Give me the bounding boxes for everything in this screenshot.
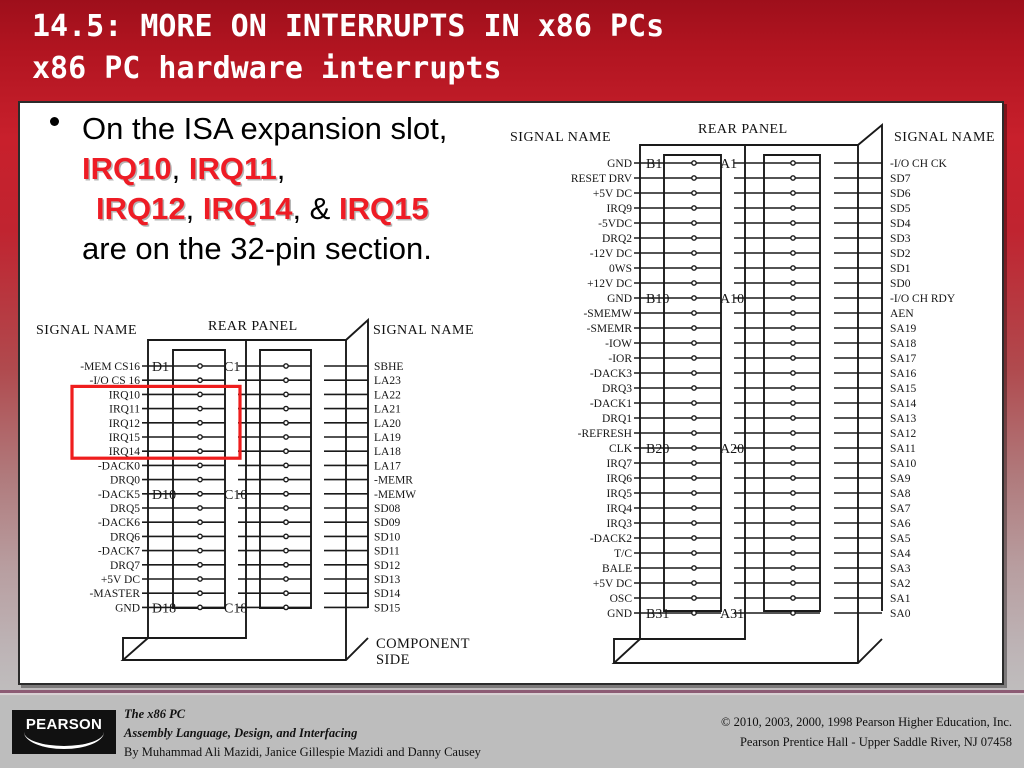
svg-text:SD5: SD5 (890, 203, 911, 215)
svg-text:SA1: SA1 (890, 593, 911, 605)
left-diagram-row: -MEM CS16SBHE (80, 361, 403, 373)
svg-text:SA18: SA18 (890, 338, 916, 350)
svg-text:A31: A31 (720, 607, 744, 622)
svg-text:T/C: T/C (614, 548, 632, 560)
svg-text:B1: B1 (646, 157, 662, 172)
right-diagram-rear-panel: REAR PANEL (698, 122, 788, 137)
svg-text:+5V DC: +5V DC (593, 188, 633, 200)
svg-text:-REFRESH: -REFRESH (578, 428, 632, 440)
left-diagram-row: -DACK6SD09 (98, 517, 401, 529)
svg-text:B31: B31 (646, 607, 669, 622)
svg-text:B10: B10 (646, 292, 669, 307)
bullet-block: On the ISA expansion slot, IRQ10, IRQ11,… (34, 109, 504, 269)
svg-text:+5V DC: +5V DC (101, 574, 141, 586)
svg-text:SA6: SA6 (890, 518, 911, 530)
right-diagram-row: DRQ1SA13 (602, 413, 916, 425)
svg-text:SD08: SD08 (374, 503, 400, 515)
right-diagram-row: IRQ6SA9 (606, 473, 910, 485)
svg-text:A20: A20 (720, 442, 744, 457)
left-diagram-signal-name-left: SIGNAL NAME (36, 323, 137, 338)
svg-text:GND: GND (607, 608, 632, 620)
right-diagram-svg: SIGNAL NAME REAR PANEL SIGNAL NAME GND-I… (502, 119, 1002, 679)
right-diagram-row: IRQ7SA10 (606, 458, 916, 470)
svg-text:IRQ15: IRQ15 (109, 432, 141, 444)
svg-text:A10: A10 (720, 292, 744, 307)
svg-text:C18: C18 (224, 601, 247, 616)
page-title-line2: x86 PC hardware interrupts (0, 50, 502, 88)
svg-text:DRQ2: DRQ2 (602, 233, 632, 245)
right-diagram-row: -DACK3SA16 (590, 368, 917, 380)
svg-text:OSC: OSC (610, 593, 633, 605)
irq11-label: IRQ11 (189, 151, 277, 186)
svg-text:DRQ5: DRQ5 (110, 503, 140, 515)
right-diagram-row: DRQ2SD3 (602, 233, 911, 245)
right-diagram-row: -SMEMWAEN (583, 308, 914, 320)
svg-text:-MEMR: -MEMR (374, 475, 413, 487)
right-diagram-row: BALESA3 (602, 563, 911, 575)
irq12-label: IRQ12 (96, 191, 186, 226)
right-diagram-row: -5VDCSD4 (598, 218, 911, 230)
left-diagram-component-label-2: SIDE (376, 652, 410, 668)
svg-text:SD0: SD0 (890, 278, 911, 290)
svg-text:LA20: LA20 (374, 418, 401, 430)
svg-text:LA22: LA22 (374, 389, 401, 401)
left-diagram-row: -MASTERSD14 (90, 588, 401, 600)
left-diagram-row: +5V DCSD13 (101, 574, 401, 586)
right-diagram-row: -SMEMRSA19 (587, 323, 917, 335)
book-subtitle: Assembly Language, Design, and Interfaci… (124, 724, 481, 743)
svg-text:SBHE: SBHE (374, 361, 403, 373)
svg-text:D18: D18 (152, 601, 176, 616)
svg-text:SA16: SA16 (890, 368, 916, 380)
slide-header: 14.5: MORE ON INTERRUPTS IN x86 PCs x86 … (0, 0, 1024, 100)
left-diagram-rear-panel: REAR PANEL (208, 319, 298, 334)
svg-text:SA9: SA9 (890, 473, 911, 485)
svg-text:SD6: SD6 (890, 188, 911, 200)
pearson-logo-text: PEARSON (12, 716, 116, 733)
right-diagram-62pin: SIGNAL NAME REAR PANEL SIGNAL NAME GND-I… (502, 119, 1002, 679)
svg-text:DRQ7: DRQ7 (110, 560, 140, 572)
bullet-dot-icon (50, 117, 59, 126)
svg-text:-DACK1: -DACK1 (590, 398, 632, 410)
right-diagram-row: DRQ3SA15 (602, 383, 916, 395)
svg-text:AEN: AEN (890, 308, 914, 320)
svg-text:IRQ10: IRQ10 (109, 389, 141, 401)
irq15-label: IRQ15 (339, 191, 429, 226)
content-card: On the ISA expansion slot, IRQ10, IRQ11,… (18, 101, 1004, 685)
left-diagram-row: IRQ12LA20 (109, 418, 401, 430)
svg-text:-SMEMR: -SMEMR (587, 323, 633, 335)
svg-text:IRQ11: IRQ11 (109, 404, 140, 416)
book-info: The x86 PC Assembly Language, Design, an… (124, 705, 481, 762)
svg-text:0WS: 0WS (609, 263, 632, 275)
svg-text:DRQ0: DRQ0 (110, 475, 140, 487)
right-diagram-row: 0WSSD1 (609, 263, 911, 275)
page-title-line1: 14.5: MORE ON INTERRUPTS IN x86 PCs (0, 8, 664, 46)
svg-text:SD4: SD4 (890, 218, 911, 230)
svg-text:SD7: SD7 (890, 173, 911, 185)
svg-text:SA0: SA0 (890, 608, 911, 620)
right-diagram-row: -DACK2SA5 (590, 533, 911, 545)
svg-text:-IOW: -IOW (605, 338, 632, 350)
right-diagram-row: -IOWSA18 (605, 338, 916, 350)
svg-text:SA11: SA11 (890, 443, 916, 455)
svg-text:-I/O CH RDY: -I/O CH RDY (890, 293, 956, 305)
svg-text:IRQ14: IRQ14 (109, 446, 141, 458)
svg-text:-IOR: -IOR (608, 353, 632, 365)
bullet-seg-1: On the ISA expansion slot, (82, 111, 447, 146)
right-diagram-row: IRQ3SA6 (606, 518, 910, 530)
left-diagram-row: -DACK0LA17 (98, 460, 401, 472)
svg-text:-DACK0: -DACK0 (98, 460, 140, 472)
left-diagram-row: -DACK7SD11 (98, 546, 400, 558)
svg-text:-DACK6: -DACK6 (98, 517, 140, 529)
left-diagram-row: IRQ10LA22 (109, 389, 401, 401)
left-diagram-signal-name-right: SIGNAL NAME (373, 323, 474, 338)
svg-text:-MEM CS16: -MEM CS16 (80, 361, 140, 373)
bullet-sep-3: , (186, 191, 203, 226)
svg-text:-5VDC: -5VDC (598, 218, 632, 230)
slide: 14.5: MORE ON INTERRUPTS IN x86 PCs x86 … (0, 0, 1024, 768)
svg-text:-MASTER: -MASTER (90, 588, 141, 600)
copyright-line-1: © 2010, 2003, 2000, 1998 Pearson Higher … (721, 712, 1012, 732)
book-authors: By Muhammad Ali Mazidi, Janice Gillespie… (124, 743, 481, 762)
svg-text:SA13: SA13 (890, 413, 916, 425)
svg-text:-DACK5: -DACK5 (98, 489, 140, 501)
svg-text:BALE: BALE (602, 563, 632, 575)
svg-text:GND: GND (115, 602, 140, 614)
svg-text:SA8: SA8 (890, 488, 911, 500)
left-diagram-row: DRQ6SD10 (110, 531, 400, 543)
svg-text:+12V DC: +12V DC (587, 278, 632, 290)
left-diagram-row: IRQ15LA19 (109, 432, 401, 444)
right-diagram-row: RESET DRVSD7 (571, 173, 911, 185)
left-diagram-row: DRQ5SD08 (110, 503, 400, 515)
svg-text:C1: C1 (224, 360, 240, 375)
svg-text:SA2: SA2 (890, 578, 911, 590)
pearson-logo: PEARSON (12, 710, 116, 754)
svg-text:-MEMW: -MEMW (374, 489, 416, 501)
left-diagram-row: IRQ14LA18 (109, 446, 401, 458)
svg-text:IRQ3: IRQ3 (606, 518, 632, 530)
svg-text:SA3: SA3 (890, 563, 911, 575)
left-diagram-svg: SIGNAL NAME REAR PANEL SIGNAL NAME COMPO… (28, 308, 498, 678)
svg-text:SA7: SA7 (890, 503, 911, 515)
svg-text:DRQ6: DRQ6 (110, 531, 140, 543)
bullet-sep-2: , (277, 151, 286, 186)
slide-footer: PEARSON The x86 PC Assembly Language, De… (0, 696, 1024, 768)
book-title: The x86 PC (124, 705, 481, 724)
svg-text:LA19: LA19 (374, 432, 401, 444)
svg-text:CLK: CLK (609, 443, 633, 455)
svg-text:SA15: SA15 (890, 383, 916, 395)
svg-text:D1: D1 (152, 360, 169, 375)
svg-text:IRQ12: IRQ12 (109, 418, 141, 430)
left-diagram-row: DRQ7SD12 (110, 560, 400, 572)
right-diagram-row: -DACK1SA14 (590, 398, 917, 410)
right-diagram-row: OSCSA1 (610, 593, 911, 605)
right-diagram-row: -IORSA17 (608, 353, 916, 365)
svg-text:A1: A1 (720, 157, 737, 172)
bullet-seg-end: are on the 32-pin section. (82, 231, 432, 266)
svg-text:SD11: SD11 (374, 546, 400, 558)
bullet-text: On the ISA expansion slot, IRQ10, IRQ11,… (82, 109, 504, 269)
right-diagram-row: IRQ9SD5 (606, 203, 910, 215)
svg-text:SD2: SD2 (890, 248, 911, 260)
svg-text:SD1: SD1 (890, 263, 911, 275)
svg-text:SD12: SD12 (374, 560, 400, 572)
svg-text:IRQ6: IRQ6 (606, 473, 632, 485)
right-diagram-row: IRQ4SA7 (606, 503, 910, 515)
svg-text:IRQ9: IRQ9 (606, 203, 632, 215)
svg-text:IRQ4: IRQ4 (606, 503, 632, 515)
irq10-label: IRQ10 (82, 151, 172, 186)
left-diagram-row: IRQ11LA21 (109, 404, 401, 416)
svg-text:LA17: LA17 (374, 460, 401, 472)
svg-text:SD3: SD3 (890, 233, 911, 245)
svg-text:SD15: SD15 (374, 602, 400, 614)
svg-text:RESET DRV: RESET DRV (571, 173, 633, 185)
pearson-swoosh-icon (24, 732, 104, 749)
svg-text:LA21: LA21 (374, 404, 401, 416)
bullet-sep-1: , (172, 151, 189, 186)
svg-text:C10: C10 (224, 488, 247, 503)
svg-text:SD09: SD09 (374, 517, 400, 529)
svg-text:LA18: LA18 (374, 446, 401, 458)
svg-text:IRQ7: IRQ7 (606, 458, 632, 470)
svg-text:DRQ3: DRQ3 (602, 383, 632, 395)
right-diagram-row: -12V DCSD2 (590, 248, 911, 260)
svg-text:SA19: SA19 (890, 323, 916, 335)
left-diagram-32pin: SIGNAL NAME REAR PANEL SIGNAL NAME COMPO… (28, 308, 498, 678)
svg-text:B20: B20 (646, 442, 669, 457)
svg-text:SA10: SA10 (890, 458, 916, 470)
svg-text:-12V DC: -12V DC (590, 248, 633, 260)
right-diagram-signal-name-left: SIGNAL NAME (510, 130, 611, 145)
svg-text:SD13: SD13 (374, 574, 400, 586)
svg-text:SA17: SA17 (890, 353, 916, 365)
right-diagram-row: T/CSA4 (614, 548, 911, 560)
svg-text:SD10: SD10 (374, 531, 400, 543)
bullet-sep-4: , & (292, 191, 339, 226)
right-diagram-row: IRQ5SA8 (606, 488, 910, 500)
left-diagram-component-label-1: COMPONENT (376, 636, 470, 652)
svg-text:D10: D10 (152, 488, 176, 503)
svg-text:-DACK2: -DACK2 (590, 533, 632, 545)
svg-text:-DACK7: -DACK7 (98, 546, 140, 558)
svg-text:DRQ1: DRQ1 (602, 413, 632, 425)
svg-text:GND: GND (607, 293, 632, 305)
irq14-label: IRQ14 (203, 191, 293, 226)
copyright-line-2: Pearson Prentice Hall - Upper Saddle Riv… (721, 732, 1012, 752)
svg-text:SA5: SA5 (890, 533, 911, 545)
svg-text:SA4: SA4 (890, 548, 911, 560)
right-diagram-signal-name-right: SIGNAL NAME (894, 130, 995, 145)
svg-text:GND: GND (607, 158, 632, 170)
footer-rule-light (0, 693, 1024, 695)
right-diagram-row: +12V DCSD0 (587, 278, 911, 290)
svg-text:SA14: SA14 (890, 398, 916, 410)
svg-text:IRQ5: IRQ5 (606, 488, 632, 500)
right-diagram-row: -REFRESHSA12 (578, 428, 917, 440)
copyright-block: © 2010, 2003, 2000, 1998 Pearson Higher … (721, 712, 1012, 752)
svg-text:+5V DC: +5V DC (593, 578, 633, 590)
svg-text:-I/O CH CK: -I/O CH CK (890, 158, 948, 170)
svg-text:-SMEMW: -SMEMW (583, 308, 632, 320)
svg-text:SD14: SD14 (374, 588, 400, 600)
svg-text:SA12: SA12 (890, 428, 916, 440)
svg-text:-DACK3: -DACK3 (590, 368, 632, 380)
svg-text:LA23: LA23 (374, 375, 401, 387)
